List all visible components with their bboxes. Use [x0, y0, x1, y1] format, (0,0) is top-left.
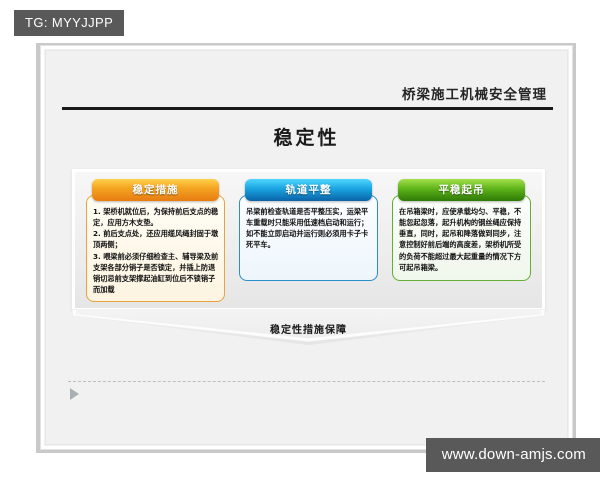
slide-page: 桥梁施工机械安全管理 稳定性 稳定措施 1. 架桥机就位后，为保持前后支点的稳定…	[40, 45, 573, 450]
panel-stability-measures[interactable]: 稳定措施 1. 架桥机就位后，为保持前后支点的稳定，应用方木支垫。 2. 前后支…	[86, 179, 225, 302]
play-triangle-icon[interactable]	[70, 388, 79, 400]
slide-page-inner: 桥梁施工机械安全管理 稳定性 稳定措施 1. 架桥机就位后，为保持前后支点的稳定…	[45, 50, 568, 445]
smartart-caption: 稳定性措施保障	[72, 321, 545, 336]
slide-main-title: 稳定性	[46, 123, 567, 150]
panel-body-stability-measures: 1. 架桥机就位后，为保持前后支点的稳定，应用方木支垫。 2. 前后支点处，还应…	[86, 195, 225, 302]
slide-header: 桥梁施工机械安全管理	[56, 83, 553, 110]
panel-text-track-flatness: 吊梁前检查轨道是否平整压实，运梁平车重载时只能采用低速档启动和运行；如不能立即启…	[246, 206, 372, 251]
tag-badge: TG: MYYJJPP	[14, 10, 124, 36]
panel-badge-stability-measures: 稳定措施	[92, 179, 219, 201]
slide-header-title: 桥梁施工机械安全管理	[56, 83, 553, 103]
panel-body-track-flatness: 吊梁前检查轨道是否平整压实，运梁平车重载时只能采用低速档启动和运行；如不能立即启…	[239, 195, 378, 281]
panel-body-steady-hoisting: 在吊箱梁时，应使承载均匀、平稳，不能忽起忽落，起升机构的钢丝绳应保持垂直，同时，…	[392, 195, 531, 281]
panel-track-flatness[interactable]: 轨道平整 吊梁前检查轨道是否平整压实，运梁平车重载时只能采用低速档启动和运行；如…	[239, 179, 378, 281]
panel-text-steady-hoisting: 在吊箱梁时，应使承载均匀、平稳，不能忽起忽落，起升机构的钢丝绳应保持垂直，同时，…	[399, 206, 525, 273]
smartart-panel-row: 稳定措施 1. 架桥机就位后，为保持前后支点的稳定，应用方木支垫。 2. 前后支…	[86, 179, 531, 303]
footer-dashed-divider	[68, 381, 545, 382]
watermark-url: www.down-amjs.com	[426, 438, 600, 472]
panel-text-stability-measures: 1. 架桥机就位后，为保持前后支点的稳定，应用方木支垫。 2. 前后支点处，还应…	[93, 206, 219, 295]
panel-badge-track-flatness: 轨道平整	[245, 179, 372, 201]
smartart-diagram: 稳定措施 1. 架桥机就位后，为保持前后支点的稳定，应用方木支垫。 2. 前后支…	[72, 169, 545, 349]
panel-badge-steady-hoisting: 平稳起吊	[398, 179, 525, 201]
panel-steady-hoisting[interactable]: 平稳起吊 在吊箱梁时，应使承载均匀、平稳，不能忽起忽落，起升机构的钢丝绳应保持垂…	[392, 179, 531, 281]
header-divider	[62, 107, 553, 110]
